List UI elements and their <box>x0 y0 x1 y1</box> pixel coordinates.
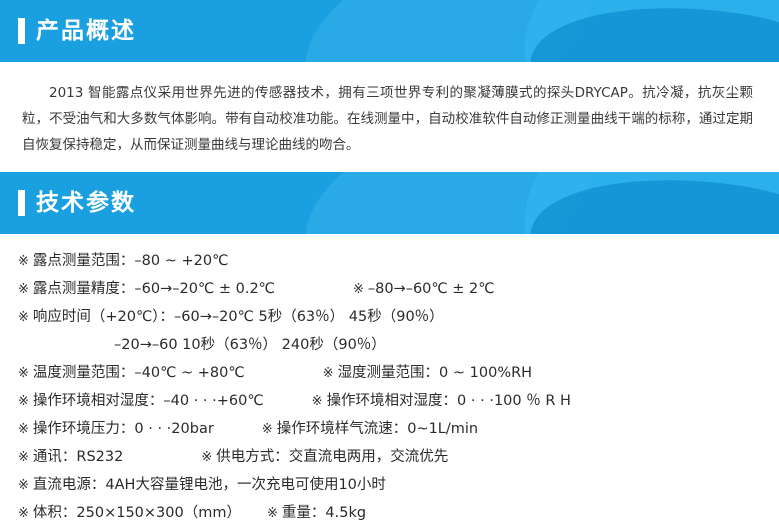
spec-text: 露点测量范围：–80 ~ +20℃ <box>33 248 228 275</box>
spec-bullet-icon: ※ <box>18 248 29 275</box>
spec-text: 露点测量精度：–60→–20℃ ± 0.2℃ <box>33 276 275 303</box>
spec-item: ※体积：250×150×300（mm） <box>18 500 241 527</box>
spec-bullet-icon: ※ <box>262 416 273 443</box>
spec-row: ※操作环境相对湿度：–40 · · ·+60℃※操作环境相对湿度：0 · · ·… <box>18 388 779 415</box>
spec-text: –80→–60℃ ± 2℃ <box>368 276 495 303</box>
spec-item: ※操作环境相对湿度：–40 · · ·+60℃ <box>18 388 264 415</box>
spec-text: 响应时间（+20℃）：–60→–20℃ 5秒（63％） 45秒（90％） <box>33 304 444 331</box>
spec-row: ※体积：250×150×300（mm）※重量：4.5kg <box>18 500 779 527</box>
spec-bullet-icon: ※ <box>18 500 29 527</box>
spec-item: ※直流电源：4AH大容量锂电池，一次充电可使用10小时 <box>18 472 386 499</box>
spec-item: ※通讯：RS232 <box>18 444 123 471</box>
spec-bullet-icon: ※ <box>18 360 29 387</box>
spec-text: –20→–60 10秒（63％） 240秒（90％） <box>114 332 386 359</box>
specs-banner-inner: 技术参数 <box>0 172 779 234</box>
spec-text: 操作环境相对湿度：0 · · ·100 ％ R H <box>327 388 571 415</box>
specs-title: 技术参数 <box>36 192 136 215</box>
spec-row: ※露点测量精度：–60→–20℃ ± 0.2℃※–80→–60℃ ± 2℃ <box>18 276 779 303</box>
spec-bullet-icon: ※ <box>18 416 29 443</box>
spec-text: 操作环境样气流速：0~1L/min <box>277 416 478 443</box>
spec-row: ※直流电源：4AH大容量锂电池，一次充电可使用10小时 <box>18 472 779 499</box>
spec-text: 供电方式：交直流电两用，交流优先 <box>216 444 448 471</box>
spec-row: ※通讯：RS232※供电方式：交直流电两用，交流优先 <box>18 444 779 471</box>
spec-item: ※重量：4.5kg <box>267 500 366 527</box>
spec-text: 直流电源：4AH大容量锂电池，一次充电可使用10小时 <box>33 472 386 499</box>
spec-bullet-icon: ※ <box>18 388 29 415</box>
spec-text: 操作环境压力：0 · · ·20bar <box>33 416 214 443</box>
spec-item: ※响应时间（+20℃）：–60→–20℃ 5秒（63％） 45秒（90％） <box>18 304 444 331</box>
banner-accent-bar <box>18 190 25 216</box>
spec-item: ※温度测量范围：–40℃ ~ +80℃ <box>18 360 245 387</box>
spec-row: ※操作环境压力：0 · · ·20bar※操作环境样气流速：0~1L/min <box>18 416 779 443</box>
spec-bullet-icon: ※ <box>18 276 29 303</box>
spec-row: ※温度测量范围：–40℃ ~ +80℃※湿度测量范围：0 ~ 100%RH <box>18 360 779 387</box>
spec-item: ※操作环境样气流速：0~1L/min <box>262 416 478 443</box>
spec-text: 重量：4.5kg <box>282 500 366 527</box>
spec-text: 通讯：RS232 <box>33 444 123 471</box>
spec-bullet-icon: ※ <box>267 500 278 527</box>
spec-bullet-icon: ※ <box>201 444 212 471</box>
product-spec-page: 产品概述 2013 智能露点仪采用世界先进的传感器技术，拥有三项世界专利的聚凝薄… <box>0 0 779 473</box>
spec-item: ※湿度测量范围：0 ~ 100%RH <box>323 360 532 387</box>
overview-section-banner: 产品概述 <box>0 0 779 62</box>
spec-text: 湿度测量范围：0 ~ 100%RH <box>338 360 533 387</box>
banner-accent-bar <box>18 18 25 44</box>
specs-section-banner: 技术参数 <box>0 172 779 234</box>
spec-bullet-icon: ※ <box>18 444 29 471</box>
overview-paragraph: 2013 智能露点仪采用世界先进的传感器技术，拥有三项世界专利的聚凝薄膜式的探头… <box>0 62 779 172</box>
specs-list: ※露点测量范围：–80 ~ +20℃※露点测量精度：–60→–20℃ ± 0.2… <box>0 234 779 527</box>
spec-row: –20→–60 10秒（63％） 240秒（90％） <box>114 332 779 359</box>
spec-bullet-icon: ※ <box>323 360 334 387</box>
spec-row: ※露点测量范围：–80 ~ +20℃ <box>18 248 779 275</box>
overview-banner-inner: 产品概述 <box>0 0 779 62</box>
spec-bullet-icon: ※ <box>18 304 29 331</box>
spec-item: –20→–60 10秒（63％） 240秒（90％） <box>114 332 386 359</box>
spec-item: ※露点测量精度：–60→–20℃ ± 0.2℃ <box>18 276 275 303</box>
overview-title: 产品概述 <box>36 20 136 43</box>
spec-text: 体积：250×150×300（mm） <box>33 500 241 527</box>
spec-item: ※操作环境相对湿度：0 · · ·100 ％ R H <box>312 388 571 415</box>
spec-bullet-icon: ※ <box>312 388 323 415</box>
spec-item: ※操作环境压力：0 · · ·20bar <box>18 416 214 443</box>
spec-item: ※–80→–60℃ ± 2℃ <box>353 276 495 303</box>
spec-bullet-icon: ※ <box>353 276 364 303</box>
spec-text: 温度测量范围：–40℃ ~ +80℃ <box>33 360 245 387</box>
spec-text: 操作环境相对湿度：–40 · · ·+60℃ <box>33 388 264 415</box>
spec-item: ※露点测量范围：–80 ~ +20℃ <box>18 248 228 275</box>
spec-bullet-icon: ※ <box>18 472 29 499</box>
spec-item: ※供电方式：交直流电两用，交流优先 <box>201 444 448 471</box>
spec-row: ※响应时间（+20℃）：–60→–20℃ 5秒（63％） 45秒（90％） <box>18 304 779 331</box>
